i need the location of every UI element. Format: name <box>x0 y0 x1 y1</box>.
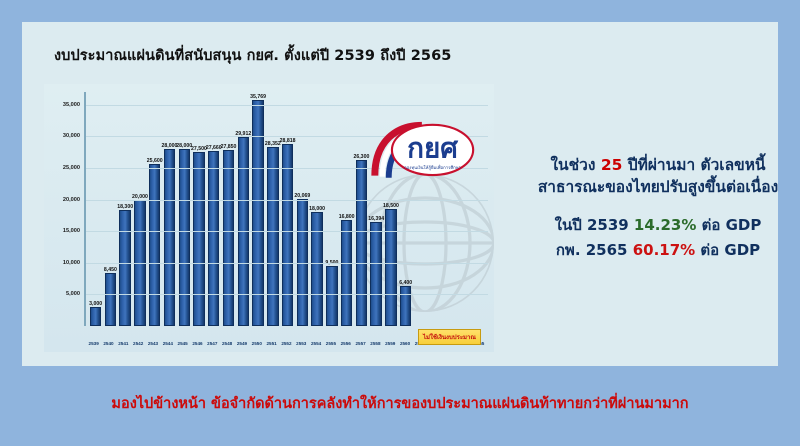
gdp-row-label: กพ. 2565 <box>556 241 633 259</box>
bar-value-label: 27,850 <box>221 144 237 150</box>
bar-slot: 27,850 <box>222 92 235 326</box>
x-axis-tick-label: 2556 <box>339 341 352 346</box>
bar-slot: 28,818 <box>281 92 294 326</box>
gridline <box>86 263 488 264</box>
bar-slot: 8,450 <box>104 92 117 326</box>
bar: 9,500 <box>326 266 337 326</box>
bar-value-label: 35,769 <box>250 94 266 100</box>
bar-slot: 3,000 <box>89 92 102 326</box>
x-axis-tick-label: 2553 <box>295 341 308 346</box>
y-axis-tick-label: 15,000 <box>63 228 80 234</box>
y-axis-tick-label: 10,000 <box>63 260 80 266</box>
bar-slot: 25,600 <box>148 92 161 326</box>
x-axis-tick-label: 2546 <box>191 341 204 346</box>
x-axis-tick-label: 2542 <box>131 341 144 346</box>
gdp-row-label: ในปี 2539 <box>555 216 634 234</box>
x-axis-tick-label: 2555 <box>324 341 337 346</box>
x-axis-tick-label: 2558 <box>369 341 382 346</box>
page-title: งบประมาณแผ่นดินที่สนับสนุน กยศ. ตั้งแต่ป… <box>54 44 451 67</box>
x-axis-tick-label: 2557 <box>354 341 367 346</box>
bar-slot: 27,660 <box>207 92 220 326</box>
bar: 16,800 <box>341 220 352 326</box>
slide-caption: มองไปข้างหน้า ข้อจำกัดด้านการคลังทำให้กา… <box>0 392 800 415</box>
logo-monogram: กยศ <box>407 133 459 164</box>
bar-value-label: 28,000 <box>162 143 178 149</box>
bar-value-label: 18,500 <box>383 203 399 209</box>
x-axis-tick-label: 2549 <box>235 341 248 346</box>
bar-value-label: 28,000 <box>176 143 192 149</box>
headline-suffix: ปีที่ผ่านมา ตัวเลขหนี้ <box>622 156 765 174</box>
bar-slot: 18,300 <box>119 92 132 326</box>
y-axis-tick-label: 30,000 <box>63 133 80 139</box>
gdp-stat-row: กพ. 2565 60.17% ต่อ GDP <box>508 238 800 264</box>
y-axis-tick-label: 25,000 <box>63 165 80 171</box>
bar-slot: 18,000 <box>310 92 323 326</box>
right-text-panel: ในช่วง 25 ปีที่ผ่านมา ตัวเลขหนี้ สาธารณะ… <box>508 154 800 264</box>
bar: 3,000 <box>90 307 101 326</box>
gdp-row-suffix: ต่อ GDP <box>695 241 760 259</box>
svg-text:กองทุนเงินให้กู้ยืมเพื่อการศึก: กองทุนเงินให้กู้ยืมเพื่อการศึกษา <box>404 164 461 171</box>
bar: 35,769 <box>252 100 263 326</box>
bar-slot: 20,069 <box>296 92 309 326</box>
bar: 16,394 <box>370 222 381 326</box>
bar-value-label: 28,352 <box>265 141 281 147</box>
x-axis-tick-label: 2543 <box>146 341 159 346</box>
y-axis-tick-label: 20,000 <box>63 197 80 203</box>
headline-line-1: ในช่วง 25 ปีที่ผ่านมา ตัวเลขหนี้ <box>508 154 800 176</box>
bar: 25,600 <box>149 164 160 326</box>
bar-value-label: 6,400 <box>399 280 412 286</box>
gdp-row-value: 14.23% <box>634 216 696 234</box>
x-axis-tick-label: 2547 <box>206 341 219 346</box>
bar: 18,500 <box>385 209 396 326</box>
gdp-row-value: 60.17% <box>633 241 695 259</box>
gdp-stat-row: ในปี 2539 14.23% ต่อ GDP <box>508 213 800 239</box>
y-axis-tick-label: 35,000 <box>63 102 80 108</box>
bar-value-label: 27,660 <box>206 145 222 151</box>
bar-value-label: 25,600 <box>147 158 163 164</box>
y-axis-tick-label: 5,000 <box>66 291 80 297</box>
headline-line-2: สาธารณะของไทยปรับสูงขึ้นต่อเนื่อง <box>508 176 800 198</box>
gridline <box>86 200 488 201</box>
headline-years-number: 25 <box>601 156 623 174</box>
bar: 27,660 <box>208 151 219 326</box>
gridline <box>86 231 488 232</box>
bar-slot: 16,800 <box>340 92 353 326</box>
bar-value-label: 16,800 <box>339 214 355 220</box>
x-axis-tick-label: 2541 <box>117 341 130 346</box>
bar-value-label: 28,818 <box>280 138 296 144</box>
bar-value-label: 18,300 <box>117 204 133 210</box>
bar: 27,500 <box>193 152 204 326</box>
bar: 28,000 <box>164 149 175 326</box>
x-axis-tick-label: 2560 <box>398 341 411 346</box>
gridline <box>86 294 488 295</box>
bar: 18,300 <box>119 210 130 326</box>
slide-panel: งบประมาณแผ่นดินที่สนับสนุน กยศ. ตั้งแต่ป… <box>22 22 778 366</box>
organization-logo-icon: กยศ กองทุนเงินให้กู้ยืมเพื่อการศึกษา <box>370 120 478 182</box>
bar: 8,450 <box>105 273 116 326</box>
bar-value-label: 16,394 <box>368 216 384 222</box>
bar: 26,300 <box>356 160 367 326</box>
x-axis-tick-label: 2551 <box>265 341 278 346</box>
bar-slot: 35,769 <box>251 92 264 326</box>
x-axis-tick-label: 2539 <box>87 341 100 346</box>
no-budget-note-badge: ไม่ใช้เงินงบประมาณ <box>418 329 481 345</box>
bar-slot: 28,000 <box>163 92 176 326</box>
bar-slot: 28,000 <box>178 92 191 326</box>
x-axis-tick-label: 2544 <box>161 341 174 346</box>
bar-slot: 26,300 <box>355 92 368 326</box>
x-axis-tick-label: 2559 <box>384 341 397 346</box>
bar-slot: 20,000 <box>133 92 146 326</box>
bar-value-label: 8,450 <box>104 267 117 273</box>
x-axis-tick-label: 2550 <box>250 341 263 346</box>
bar-value-label: 18,000 <box>309 206 325 212</box>
bar-value-label: 27,500 <box>191 146 207 152</box>
bar: 6,400 <box>400 286 411 326</box>
bar-value-label: 3,000 <box>89 301 102 307</box>
bar: 28,818 <box>282 144 293 326</box>
bar: 27,850 <box>223 150 234 326</box>
x-axis-tick-label: 2545 <box>176 341 189 346</box>
bar: 28,000 <box>179 149 190 326</box>
gdp-stats-list: ในปี 2539 14.23% ต่อ GDPกพ. 2565 60.17% … <box>508 213 800 264</box>
bar-value-label: 26,300 <box>353 154 369 160</box>
x-axis-tick-label: 2540 <box>102 341 115 346</box>
y-axis-labels: 5,00010,00015,00020,00025,00030,00035,00… <box>44 92 82 326</box>
bar-slot: 28,352 <box>266 92 279 326</box>
bar-slot: 9,500 <box>325 92 338 326</box>
x-axis-tick-label: 2548 <box>220 341 233 346</box>
bar: 28,352 <box>267 147 278 326</box>
gdp-row-suffix: ต่อ GDP <box>696 216 761 234</box>
headline-prefix: ในช่วง <box>550 156 600 174</box>
x-axis-tick-label: 2554 <box>309 341 322 346</box>
x-axis-tick-label: 2552 <box>280 341 293 346</box>
bar-slot: 29,912 <box>237 92 250 326</box>
bar-slot: 27,500 <box>192 92 205 326</box>
gridline <box>86 105 488 106</box>
bar: 18,000 <box>311 212 322 326</box>
bar-value-label: 20,069 <box>294 193 310 199</box>
